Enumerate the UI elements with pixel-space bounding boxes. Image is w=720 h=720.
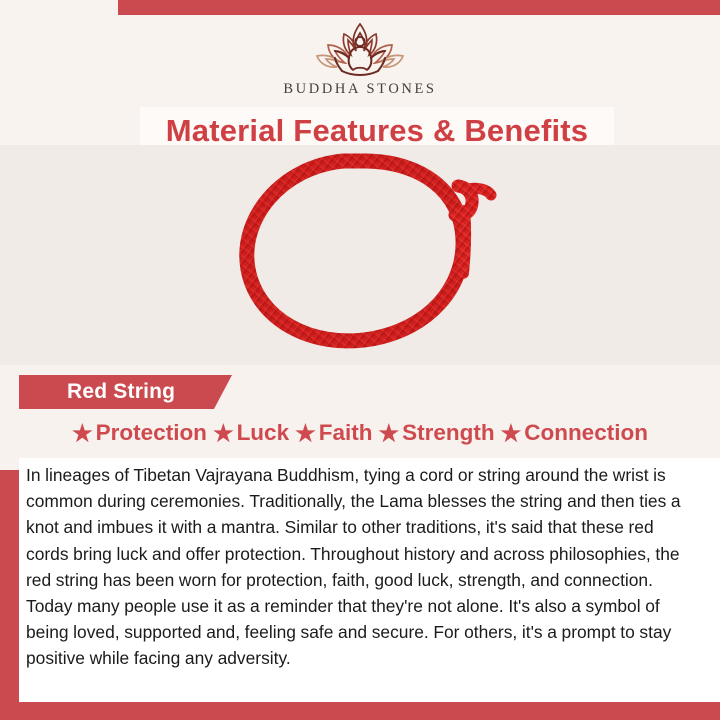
benefits-list: ★ Protection ★ Luck ★ Faith ★ Strength ★… <box>0 420 720 446</box>
lotus-meditation-icon <box>308 18 412 80</box>
benefit-label: Luck <box>237 420 290 446</box>
benefit-label: Connection <box>524 420 648 446</box>
star-icon: ★ <box>72 422 93 445</box>
red-string-bracelet-image <box>215 153 505 361</box>
brand-wordmark: BUDDHA STONES <box>0 81 720 98</box>
star-icon: ★ <box>501 422 522 445</box>
description-panel: In lineages of Tibetan Vajrayana Buddhis… <box>19 458 720 702</box>
benefit-label: Faith <box>319 420 373 446</box>
frame-top-band <box>118 0 720 15</box>
product-name-label: Red String <box>67 380 175 404</box>
product-name-tab: Red String <box>19 375 232 409</box>
star-icon: ★ <box>213 422 234 445</box>
star-icon: ★ <box>378 422 399 445</box>
star-icon: ★ <box>295 422 316 445</box>
brand-logo: BUDDHA STONES <box>0 18 720 98</box>
frame-bottom-band <box>0 702 720 720</box>
benefit-item-connection: ★ Connection <box>501 420 648 446</box>
header-section: BUDDHA STONES Material Features & Benefi… <box>0 15 720 145</box>
infographic-page: BUDDHA STONES Material Features & Benefi… <box>0 0 720 720</box>
benefit-label: Protection <box>96 420 207 446</box>
benefit-item-protection: ★ Protection <box>72 420 207 446</box>
page-title: Material Features & Benefits <box>166 113 589 149</box>
benefit-item-luck: ★ Luck <box>213 420 289 446</box>
benefit-item-faith: ★ Faith <box>295 420 372 446</box>
benefit-label: Strength <box>402 420 495 446</box>
benefit-item-strength: ★ Strength <box>378 420 494 446</box>
product-image-section <box>0 145 720 365</box>
description-text: In lineages of Tibetan Vajrayana Buddhis… <box>26 462 698 672</box>
